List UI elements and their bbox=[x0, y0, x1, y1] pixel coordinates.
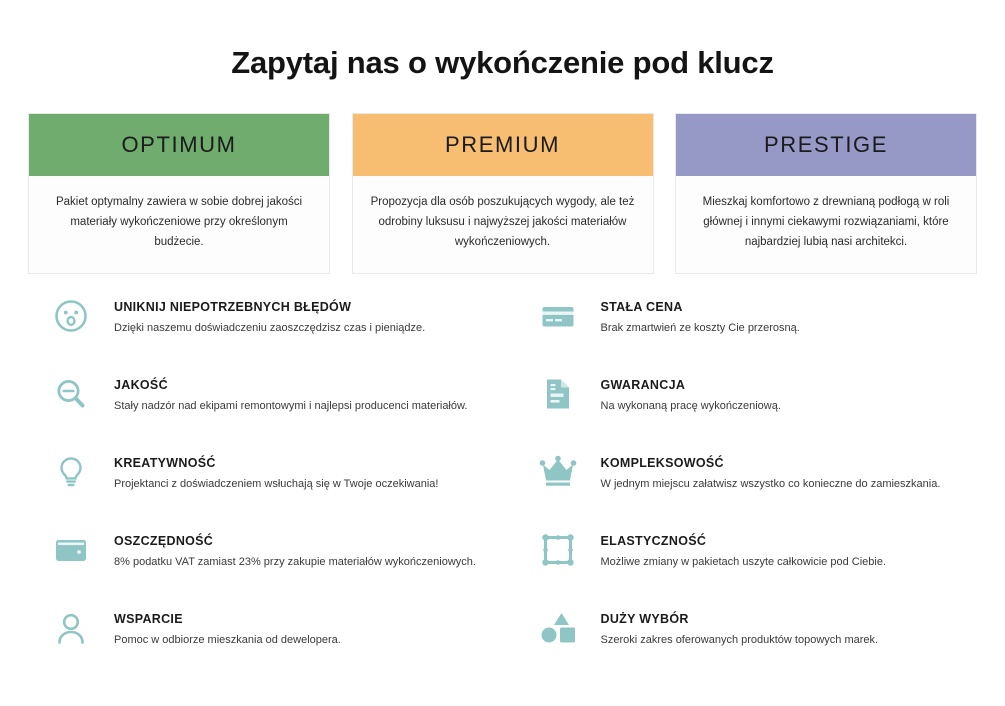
feature-description: Brak zmartwień ze koszty Cie przerosną. bbox=[601, 321, 800, 336]
feature-title: GWARANCJA bbox=[601, 378, 781, 392]
feature-title: UNIKNIJ NIEPOTRZEBNYCH BŁĘDÓW bbox=[114, 300, 425, 314]
feature-title: JAKOŚĆ bbox=[114, 378, 467, 392]
lightbulb-icon bbox=[28, 452, 114, 490]
feature-item: OSZCZĘDNOŚĆ 8% podatku VAT zamiast 23% p… bbox=[28, 530, 491, 608]
feature-description: Pomoc w odbiorze mieszkania od deweloper… bbox=[114, 633, 341, 648]
feature-description: Dzięki naszemu doświadczeniu zaoszczędzi… bbox=[114, 321, 425, 336]
feature-text: DUŻY WYBÓR Szeroki zakres oferowanych pr… bbox=[601, 608, 879, 648]
feature-text: JAKOŚĆ Stały nadzór nad ekipami remontow… bbox=[114, 374, 467, 414]
feature-text: UNIKNIJ NIEPOTRZEBNYCH BŁĘDÓW Dzięki nas… bbox=[114, 296, 425, 336]
credit-card-icon bbox=[515, 296, 601, 334]
shapes-icon bbox=[515, 608, 601, 644]
resize-frame-icon bbox=[515, 530, 601, 568]
feature-item: DUŻY WYBÓR Szeroki zakres oferowanych pr… bbox=[515, 608, 978, 686]
package-card-description: Propozycja dla osób poszukujących wygody… bbox=[353, 176, 653, 272]
feature-text: OSZCZĘDNOŚĆ 8% podatku VAT zamiast 23% p… bbox=[114, 530, 476, 570]
feature-description: Możliwe zmiany w pakietach uszyte całkow… bbox=[601, 555, 887, 570]
package-cards: OPTIMUM Pakiet optymalny zawiera w sobie… bbox=[0, 113, 1005, 273]
package-card-description: Pakiet optymalny zawiera w sobie dobrej … bbox=[29, 176, 329, 272]
user-icon bbox=[28, 608, 114, 646]
package-card-optimum[interactable]: OPTIMUM Pakiet optymalny zawiera w sobie… bbox=[28, 113, 330, 273]
feature-description: Projektanci z doświadczeniem wsłuchają s… bbox=[114, 477, 438, 492]
features-column-right: STAŁA CENA Brak zmartwień ze koszty Cie … bbox=[515, 296, 978, 686]
feature-description: Na wykonaną pracę wykończeniową. bbox=[601, 399, 781, 414]
crown-icon bbox=[515, 452, 601, 488]
feature-text: ELASTYCZNOŚĆ Możliwe zmiany w pakietach … bbox=[601, 530, 887, 570]
feature-description: 8% podatku VAT zamiast 23% przy zakupie … bbox=[114, 555, 476, 570]
package-card-header: PREMIUM bbox=[353, 114, 653, 176]
feature-description: Szeroki zakres oferowanych produktów top… bbox=[601, 633, 879, 648]
feature-text: KREATYWNOŚĆ Projektanci z doświadczeniem… bbox=[114, 452, 438, 492]
package-card-premium[interactable]: PREMIUM Propozycja dla osób poszukującyc… bbox=[352, 113, 654, 273]
package-card-header: OPTIMUM bbox=[29, 114, 329, 176]
feature-text: KOMPLEKSOWOŚĆ W jednym miejscu załatwisz… bbox=[601, 452, 941, 492]
feature-text: STAŁA CENA Brak zmartwień ze koszty Cie … bbox=[601, 296, 800, 336]
feature-item: KOMPLEKSOWOŚĆ W jednym miejscu załatwisz… bbox=[515, 452, 978, 530]
features-column-left: UNIKNIJ NIEPOTRZEBNYCH BŁĘDÓW Dzięki nas… bbox=[28, 296, 491, 686]
magnifier-minus-icon bbox=[28, 374, 114, 412]
feature-text: WSPARCIE Pomoc w odbiorze mieszkania od … bbox=[114, 608, 341, 648]
package-card-description: Mieszkaj komfortowo z drewnianą podłogą … bbox=[676, 176, 976, 272]
feature-item: ELASTYCZNOŚĆ Możliwe zmiany w pakietach … bbox=[515, 530, 978, 608]
feature-title: STAŁA CENA bbox=[601, 300, 800, 314]
feature-item: GWARANCJA Na wykonaną pracę wykończeniow… bbox=[515, 374, 978, 452]
surprised-face-icon bbox=[28, 296, 114, 334]
page-title: Zapytaj nas o wykończenie pod klucz bbox=[0, 0, 1005, 81]
feature-text: GWARANCJA Na wykonaną pracę wykończeniow… bbox=[601, 374, 781, 414]
feature-title: OSZCZĘDNOŚĆ bbox=[114, 534, 476, 548]
feature-item: STAŁA CENA Brak zmartwień ze koszty Cie … bbox=[515, 296, 978, 374]
document-icon bbox=[515, 374, 601, 412]
feature-title: DUŻY WYBÓR bbox=[601, 612, 879, 626]
feature-item: WSPARCIE Pomoc w odbiorze mieszkania od … bbox=[28, 608, 491, 686]
package-card-prestige[interactable]: PRESTIGE Mieszkaj komfortowo z drewnianą… bbox=[675, 113, 977, 273]
feature-description: Stały nadzór nad ekipami remontowymi i n… bbox=[114, 399, 467, 414]
feature-title: ELASTYCZNOŚĆ bbox=[601, 534, 887, 548]
feature-item: UNIKNIJ NIEPOTRZEBNYCH BŁĘDÓW Dzięki nas… bbox=[28, 296, 491, 374]
page-root: Zapytaj nas o wykończenie pod klucz OPTI… bbox=[0, 0, 1005, 706]
feature-description: W jednym miejscu załatwisz wszystko co k… bbox=[601, 477, 941, 492]
feature-title: KOMPLEKSOWOŚĆ bbox=[601, 456, 941, 470]
features-section: UNIKNIJ NIEPOTRZEBNYCH BŁĘDÓW Dzięki nas… bbox=[0, 274, 1005, 686]
feature-item: JAKOŚĆ Stały nadzór nad ekipami remontow… bbox=[28, 374, 491, 452]
feature-title: KREATYWNOŚĆ bbox=[114, 456, 438, 470]
package-card-header: PRESTIGE bbox=[676, 114, 976, 176]
feature-item: KREATYWNOŚĆ Projektanci z doświadczeniem… bbox=[28, 452, 491, 530]
wallet-icon bbox=[28, 530, 114, 568]
feature-title: WSPARCIE bbox=[114, 612, 341, 626]
